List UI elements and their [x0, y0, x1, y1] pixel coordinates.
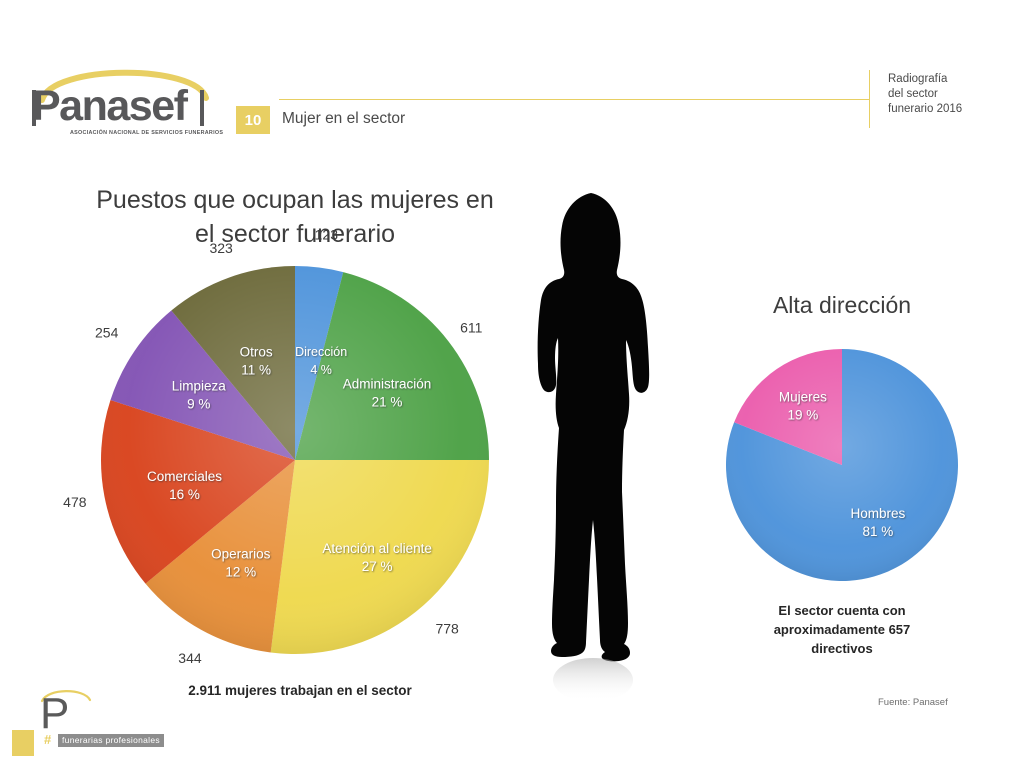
report-title: Radiografía del sector funerario 2016 — [888, 72, 1018, 117]
slide: Panasef ASOCIACIÓN NACIONAL DE SERVICIOS… — [0, 0, 1024, 768]
panasef-logo: Panasef ASOCIACIÓN NACIONAL DE SERVICIOS… — [32, 58, 232, 138]
pie-outer-value: 778 — [435, 621, 459, 637]
report-line-1: Radiografía — [888, 72, 1018, 87]
right-chart-caption: El sector cuenta con aproximadamente 657… — [742, 601, 942, 658]
left-chart-title: Puestos que ocupan las mujeres en el sec… — [60, 183, 530, 251]
source-note: Fuente: Panasef — [878, 697, 948, 708]
logo-tagline: ASOCIACIÓN NACIONAL DE SERVICIOS FUNERAR… — [70, 130, 223, 136]
right-caption-line2: aproximadamente 657 — [742, 620, 942, 639]
right-caption-line1: El sector cuenta con — [742, 601, 942, 620]
logo-wordmark-text: Panasef — [32, 82, 189, 130]
footer-tag: funerarias profesionales — [58, 734, 164, 747]
header-divider — [279, 99, 869, 100]
pie-outer-value: 323 — [209, 240, 233, 256]
left-chart-title-line2: el sector funerario — [60, 217, 530, 251]
pie-chart-alta-direccion: Hombres81 %Mujeres19 % — [700, 330, 990, 580]
right-chart-title: Alta dirección — [722, 292, 962, 319]
report-line-2: del sector — [888, 87, 1018, 102]
pie-slices-group — [101, 266, 489, 654]
right-caption-line3: directivos — [742, 639, 942, 658]
pie-outer-value: 611 — [460, 319, 483, 335]
hash-icon: # — [44, 732, 51, 747]
report-line-3: funerario 2016 — [888, 102, 1018, 117]
pie-outer-value: 478 — [63, 494, 87, 510]
left-chart-title-line1: Puestos que ocupan las mujeres en — [60, 183, 530, 217]
woman-silhouette-icon — [521, 182, 701, 702]
pie-outer-value: 344 — [178, 650, 202, 666]
pie-chart-puestos: Dirección4 %Administración21 %Atención a… — [60, 248, 530, 668]
pie-slices-group — [726, 349, 958, 581]
section-title: Mujer en el sector — [282, 110, 405, 128]
slide-number-badge: 10 — [236, 106, 270, 134]
footer-color-swatch — [12, 730, 34, 756]
footer-logo: P # funerarias profesionales — [12, 682, 182, 764]
header-vertical-divider — [869, 70, 870, 128]
pie-outer-value: 254 — [95, 324, 119, 340]
footer-logo-letter: P — [40, 692, 69, 736]
logo-wordmark: Panasef — [32, 82, 222, 130]
pie-outer-value: 123 — [315, 227, 339, 243]
